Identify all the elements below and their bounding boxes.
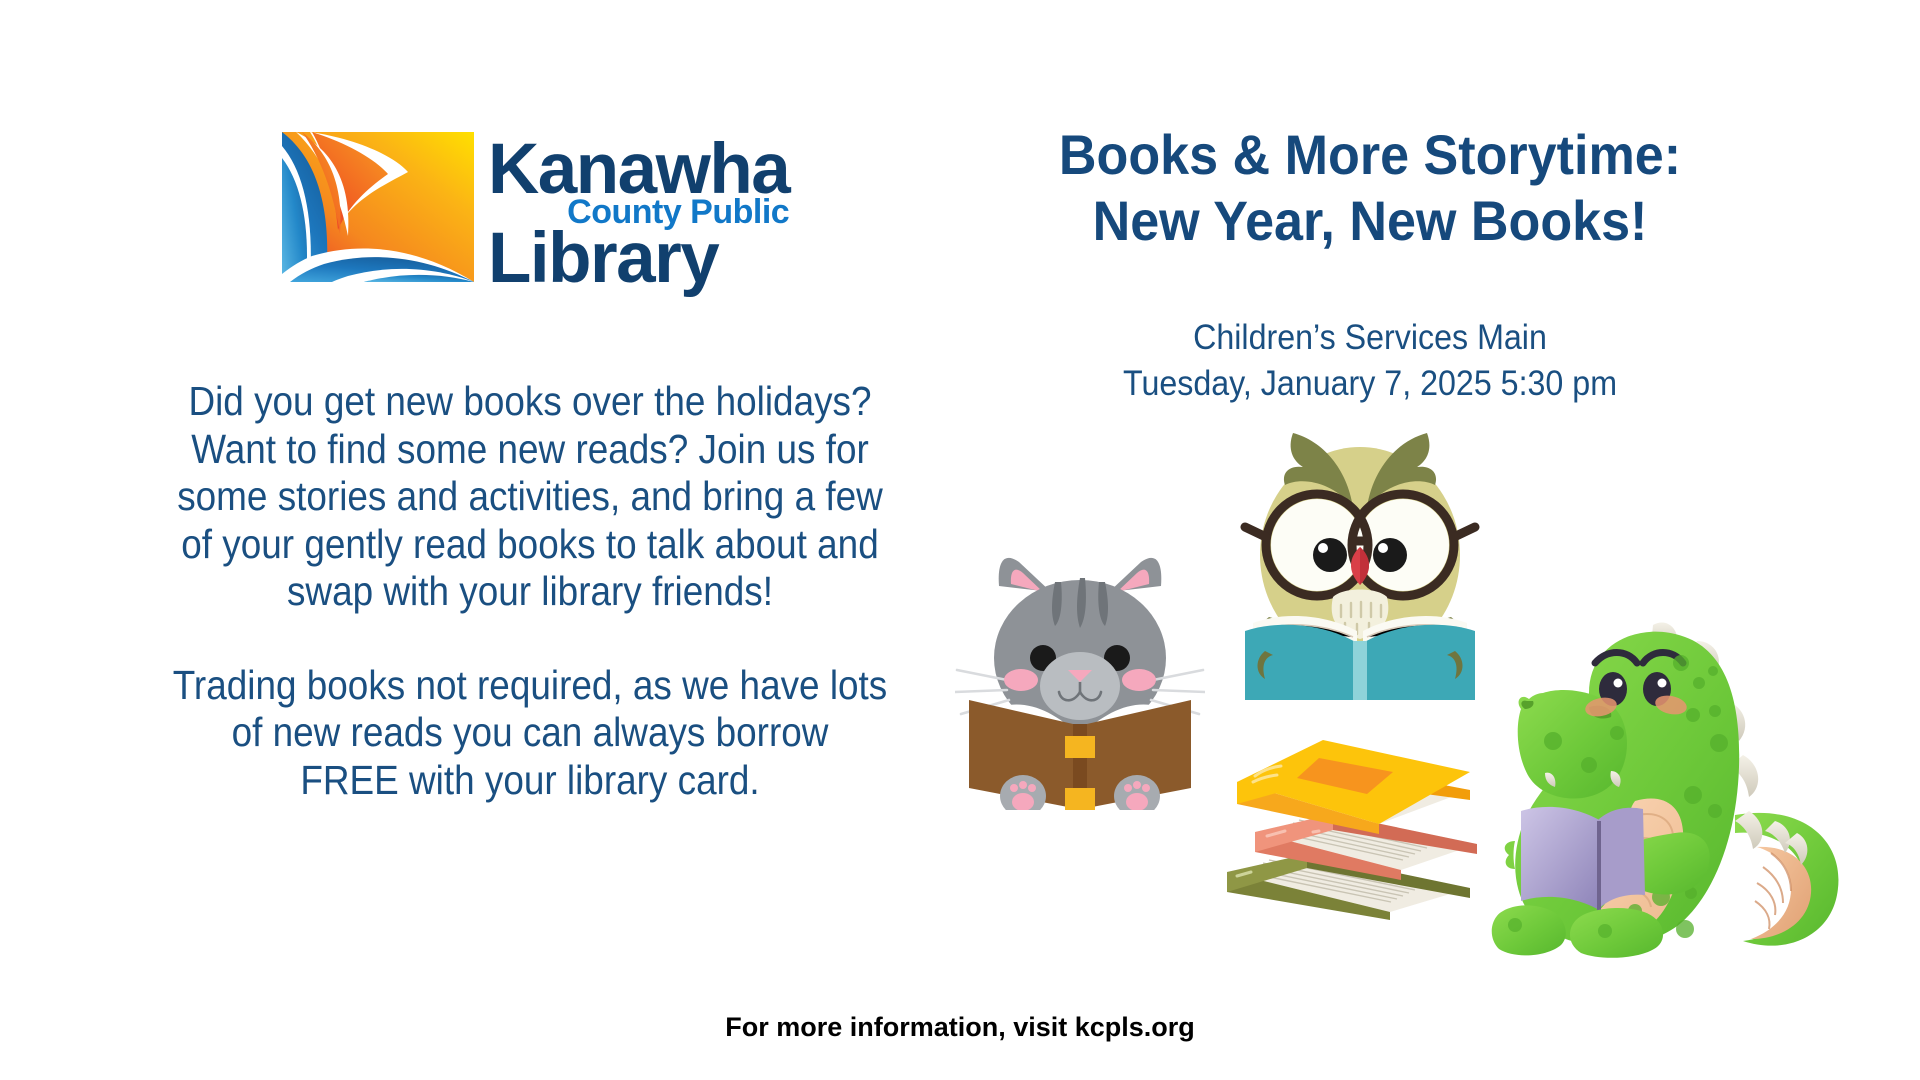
p2-line-1: Trading books not required, as we have l… [173, 662, 887, 708]
event-description: Did you get new books over the holidays?… [143, 378, 917, 804]
poster-canvas: Kanawha County Public Library Books & Mo… [0, 0, 1920, 1080]
cat-reading-book-illustration [955, 540, 1205, 810]
p1-line-1: Did you get new books over the holidays? [188, 378, 871, 424]
p2-line-3: FREE with your library card. [300, 757, 759, 803]
headline-line-2: New Year, New Books! [970, 188, 1770, 254]
logo-line-kanawha: Kanawha [488, 134, 789, 192]
dinosaur-reading-book-illustration [1485, 615, 1850, 960]
p2-line-2: of new reads you can always borrow [232, 709, 829, 755]
description-paragraph-2: Trading books not required, as we have l… [143, 662, 917, 805]
description-paragraph-1: Did you get new books over the holidays?… [143, 378, 917, 616]
logo-wordmark: Kanawha County Public Library [488, 132, 789, 294]
p1-line-4: of your gently read books to talk about … [181, 521, 878, 567]
open-book-logo-mark-icon [282, 132, 474, 282]
p1-line-2: Want to find some new reads? Join us for [191, 426, 869, 472]
owl-with-glasses-reading-book-illustration [1235, 415, 1485, 700]
footer-info: For more information, visit kcpls.org [0, 1012, 1920, 1043]
event-headline: Books & More Storytime: New Year, New Bo… [970, 122, 1770, 254]
event-datetime: Tuesday, January 7, 2025 5:30 pm [974, 361, 1765, 407]
headline-line-1: Books & More Storytime: [1059, 123, 1681, 186]
library-logo: Kanawha County Public Library [282, 132, 789, 294]
event-location: Children’s Services Main [974, 315, 1765, 361]
event-details: Children’s Services Main Tuesday, Januar… [974, 315, 1765, 406]
stack-of-books-illustration [1215, 720, 1480, 920]
paragraph-spacer [143, 616, 917, 662]
p1-line-3: some stories and activities, and bring a… [177, 473, 883, 519]
p1-line-5: swap with your library friends! [287, 568, 773, 614]
logo-line-library: Library [488, 223, 789, 294]
